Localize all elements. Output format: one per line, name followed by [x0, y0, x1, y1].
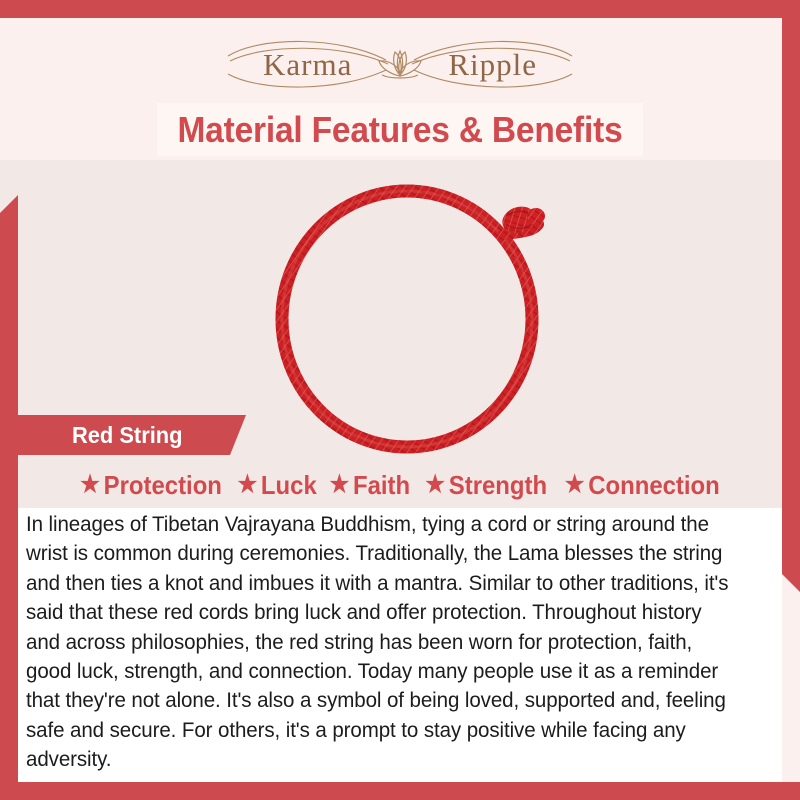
feature-list: ★ Protection ★ Luck ★ Faith ★ Strength ★…: [18, 466, 782, 504]
material-banner-label: Red String: [72, 422, 182, 449]
star-icon: ★: [80, 473, 100, 497]
feature-item-luck: ★ Luck: [237, 470, 316, 501]
page-title: Material Features & Benefits: [174, 103, 626, 156]
star-icon: ★: [237, 473, 257, 497]
feature-label: Strength: [448, 470, 546, 501]
infographic-page: Karma Ripple Material Features & Benefit…: [0, 0, 800, 800]
feature-label: Connection: [588, 470, 720, 501]
feature-item-strength: ★ Strength: [425, 470, 547, 501]
feature-item-connection: ★ Connection: [565, 470, 720, 501]
star-icon: ★: [565, 473, 585, 497]
feature-label: Faith: [353, 470, 410, 501]
frame-border-bottom: [0, 782, 800, 800]
star-icon: ★: [425, 473, 445, 497]
frame-border-left: [0, 195, 18, 800]
feature-label: Protection: [103, 470, 221, 501]
feature-item-faith: ★ Faith: [329, 470, 410, 501]
frame-border-top: [0, 0, 800, 18]
product-image: [266, 172, 566, 468]
frame-border-right: [782, 0, 800, 592]
description-text: In lineages of Tibetan Vajrayana Buddhis…: [26, 510, 740, 780]
feature-label: Luck: [261, 470, 317, 501]
feature-item-protection: ★ Protection: [80, 470, 222, 501]
material-banner: Red String: [18, 415, 246, 455]
star-icon: ★: [329, 473, 349, 497]
